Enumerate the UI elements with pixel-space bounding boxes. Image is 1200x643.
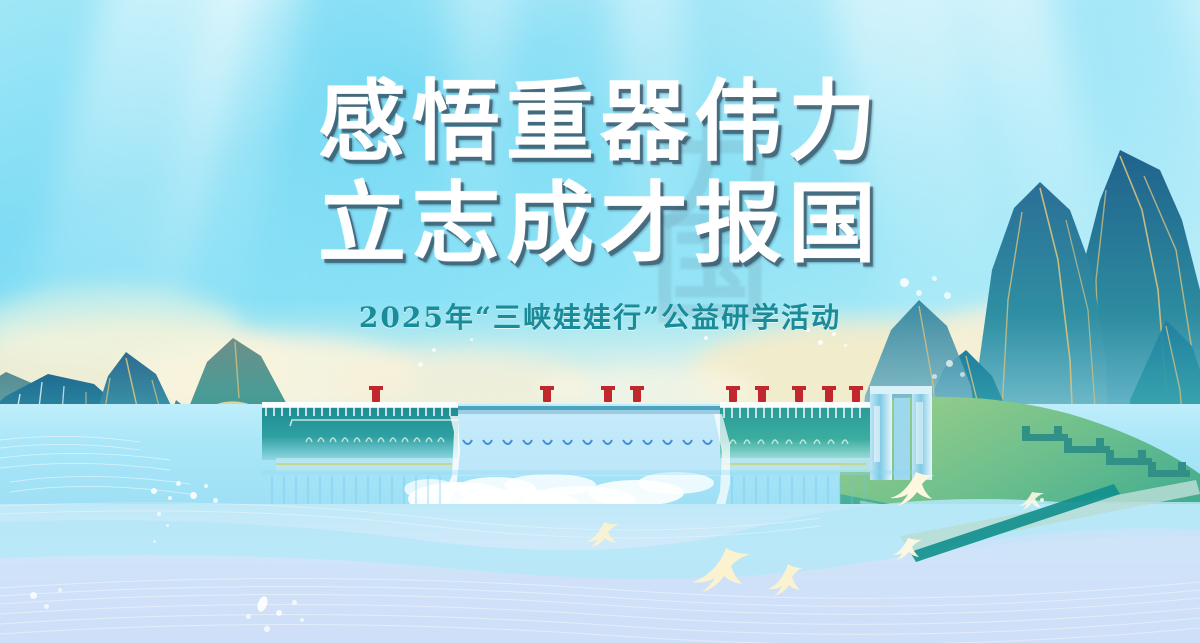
swallow-icon — [890, 470, 934, 508]
page-title-line-2: 立志成才报国 — [0, 180, 1200, 268]
swallow-icon — [768, 562, 802, 598]
swallow-icon — [892, 536, 922, 562]
page-title-line-1: 感悟重器伟力 — [0, 78, 1200, 166]
swallow-icon — [586, 520, 620, 550]
headline-block: 感悟重器伟力 立志成才报国 2025年“三峡娃娃行”公益研学活动 — [0, 0, 1200, 336]
swallow-icon — [690, 546, 752, 594]
promo-banner: 力 国 — [0, 0, 1200, 643]
swallow-icon — [1018, 490, 1044, 512]
subtitle: 2025年“三峡娃娃行”公益研学活动 — [0, 296, 1200, 336]
